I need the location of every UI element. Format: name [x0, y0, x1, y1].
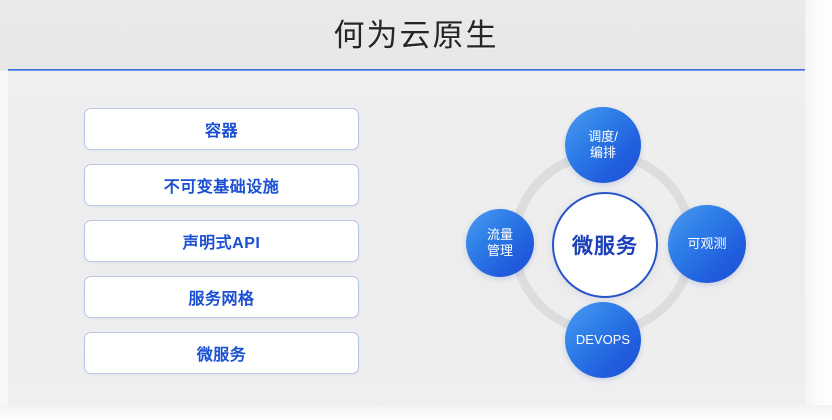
- diagram-center-label: 微服务: [572, 230, 638, 260]
- diagram-node-observability[interactable]: 可观测: [668, 205, 746, 283]
- page-title: 何为云原生: [334, 20, 499, 51]
- concept-card-declarative-api[interactable]: 声明式API: [84, 220, 359, 262]
- concept-card-label: 不可变基础设施: [164, 173, 280, 197]
- panel-right-edge: [805, 0, 832, 420]
- concept-card-container[interactable]: 容器: [84, 108, 359, 150]
- slide-canvas: 何为云原生 容器 不可变基础设施 声明式API 服务网格 微服务 调度/编排 可…: [0, 0, 832, 420]
- diagram-node-devops[interactable]: DEVOPS: [565, 302, 641, 378]
- concept-card-service-mesh[interactable]: 服务网格: [84, 276, 359, 318]
- diagram-node-scheduling-orchestration[interactable]: 调度/编排: [565, 107, 641, 183]
- title-band: 何为云原生: [0, 0, 832, 70]
- microservices-hub-diagram: 调度/编排 可观测 DEVOPS 流量管理 微服务: [455, 90, 765, 390]
- concept-card-immutable-infrastructure[interactable]: 不可变基础设施: [84, 164, 359, 206]
- panel-bottom-edge: [0, 405, 832, 420]
- panel-left-edge: [0, 71, 8, 405]
- concept-card-label: 容器: [205, 117, 238, 141]
- concept-card-label: 微服务: [197, 341, 247, 365]
- diagram-node-traffic-management[interactable]: 流量管理: [466, 209, 534, 277]
- concept-card-microservices[interactable]: 微服务: [84, 332, 359, 374]
- concept-card-label: 声明式API: [183, 229, 261, 253]
- concept-card-list: 容器 不可变基础设施 声明式API 服务网格 微服务: [84, 108, 359, 374]
- concept-card-label: 服务网格: [188, 285, 254, 309]
- diagram-node-microservices-center[interactable]: 微服务: [552, 192, 658, 298]
